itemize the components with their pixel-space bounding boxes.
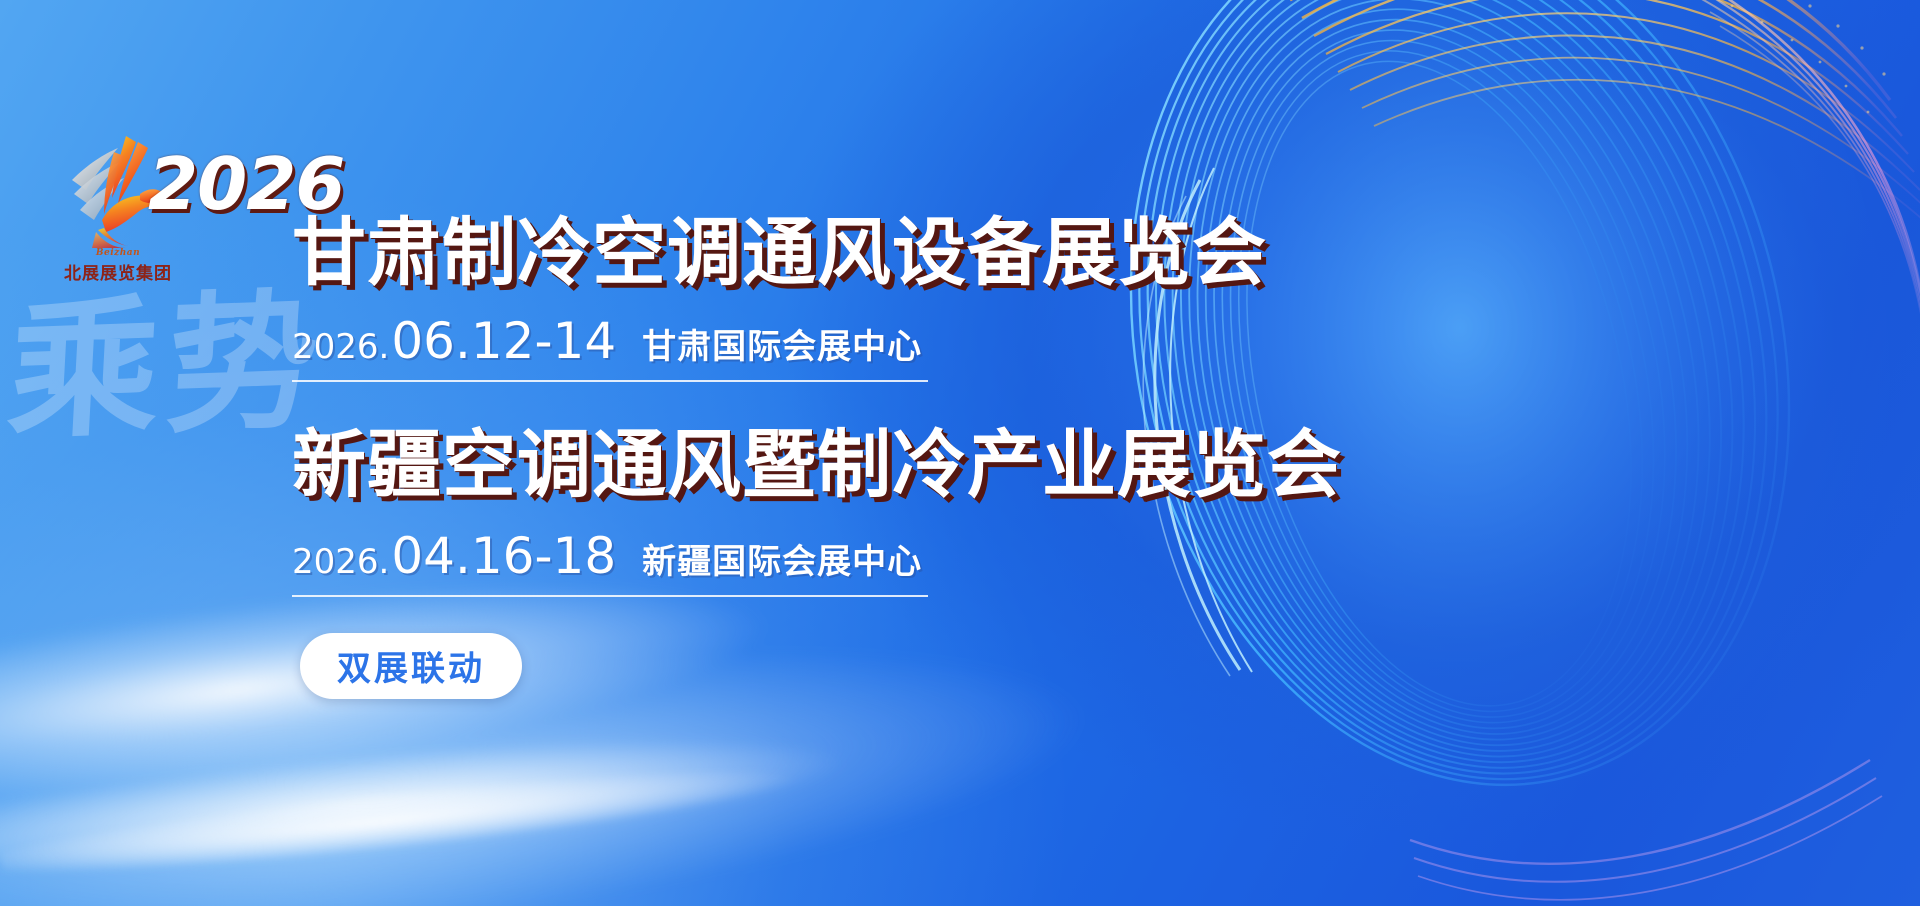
exhibition-banner: 乘势 (0, 0, 1920, 906)
venue-xinjiang: 新疆国际会展中心 (642, 534, 922, 583)
date-main-gansu: 06.12-14 (391, 312, 616, 370)
exhibition-title-xinjiang: 新疆空调通风暨制冷产业展览会 (292, 426, 1392, 504)
exhibition-title-gansu: 甘肃制冷空调通风设备展览会 (292, 214, 1392, 292)
organizer-brand-name-en: Beizhan (48, 248, 188, 258)
organizer-brand-name-cn: 北展展览集团 (64, 264, 172, 284)
divider-xinjiang (292, 595, 928, 597)
banner-content: 甘肃制冷空调通风设备展览会 2026. 06.12-14 甘肃国际会展中心 新疆… (292, 214, 1392, 699)
exhibition-date-row-gansu: 2026. 06.12-14 甘肃国际会展中心 (292, 312, 1392, 370)
date-year-gansu: 2026. (292, 327, 389, 367)
calligraphy-watermark: 乘势 (2, 287, 313, 497)
exhibition-date-row-xinjiang: 2026. 04.16-18 新疆国际会展中心 (292, 527, 1392, 585)
organizer-brand-name: Beizhan 北展展览集团 (48, 248, 188, 284)
date-year-xinjiang: 2026. (292, 542, 389, 582)
venue-gansu: 甘肃国际会展中心 (642, 319, 922, 368)
date-main-xinjiang: 04.16-18 (391, 527, 616, 585)
exhibition-block-xinjiang: 新疆空调通风暨制冷产业展览会 2026. 04.16-18 新疆国际会展中心 (292, 426, 1392, 596)
exhibition-block-gansu: 甘肃制冷空调通风设备展览会 2026. 06.12-14 甘肃国际会展中心 (292, 214, 1392, 382)
dual-exhibition-badge[interactable]: 双展联动 (300, 633, 522, 699)
divider-gansu (292, 380, 928, 382)
